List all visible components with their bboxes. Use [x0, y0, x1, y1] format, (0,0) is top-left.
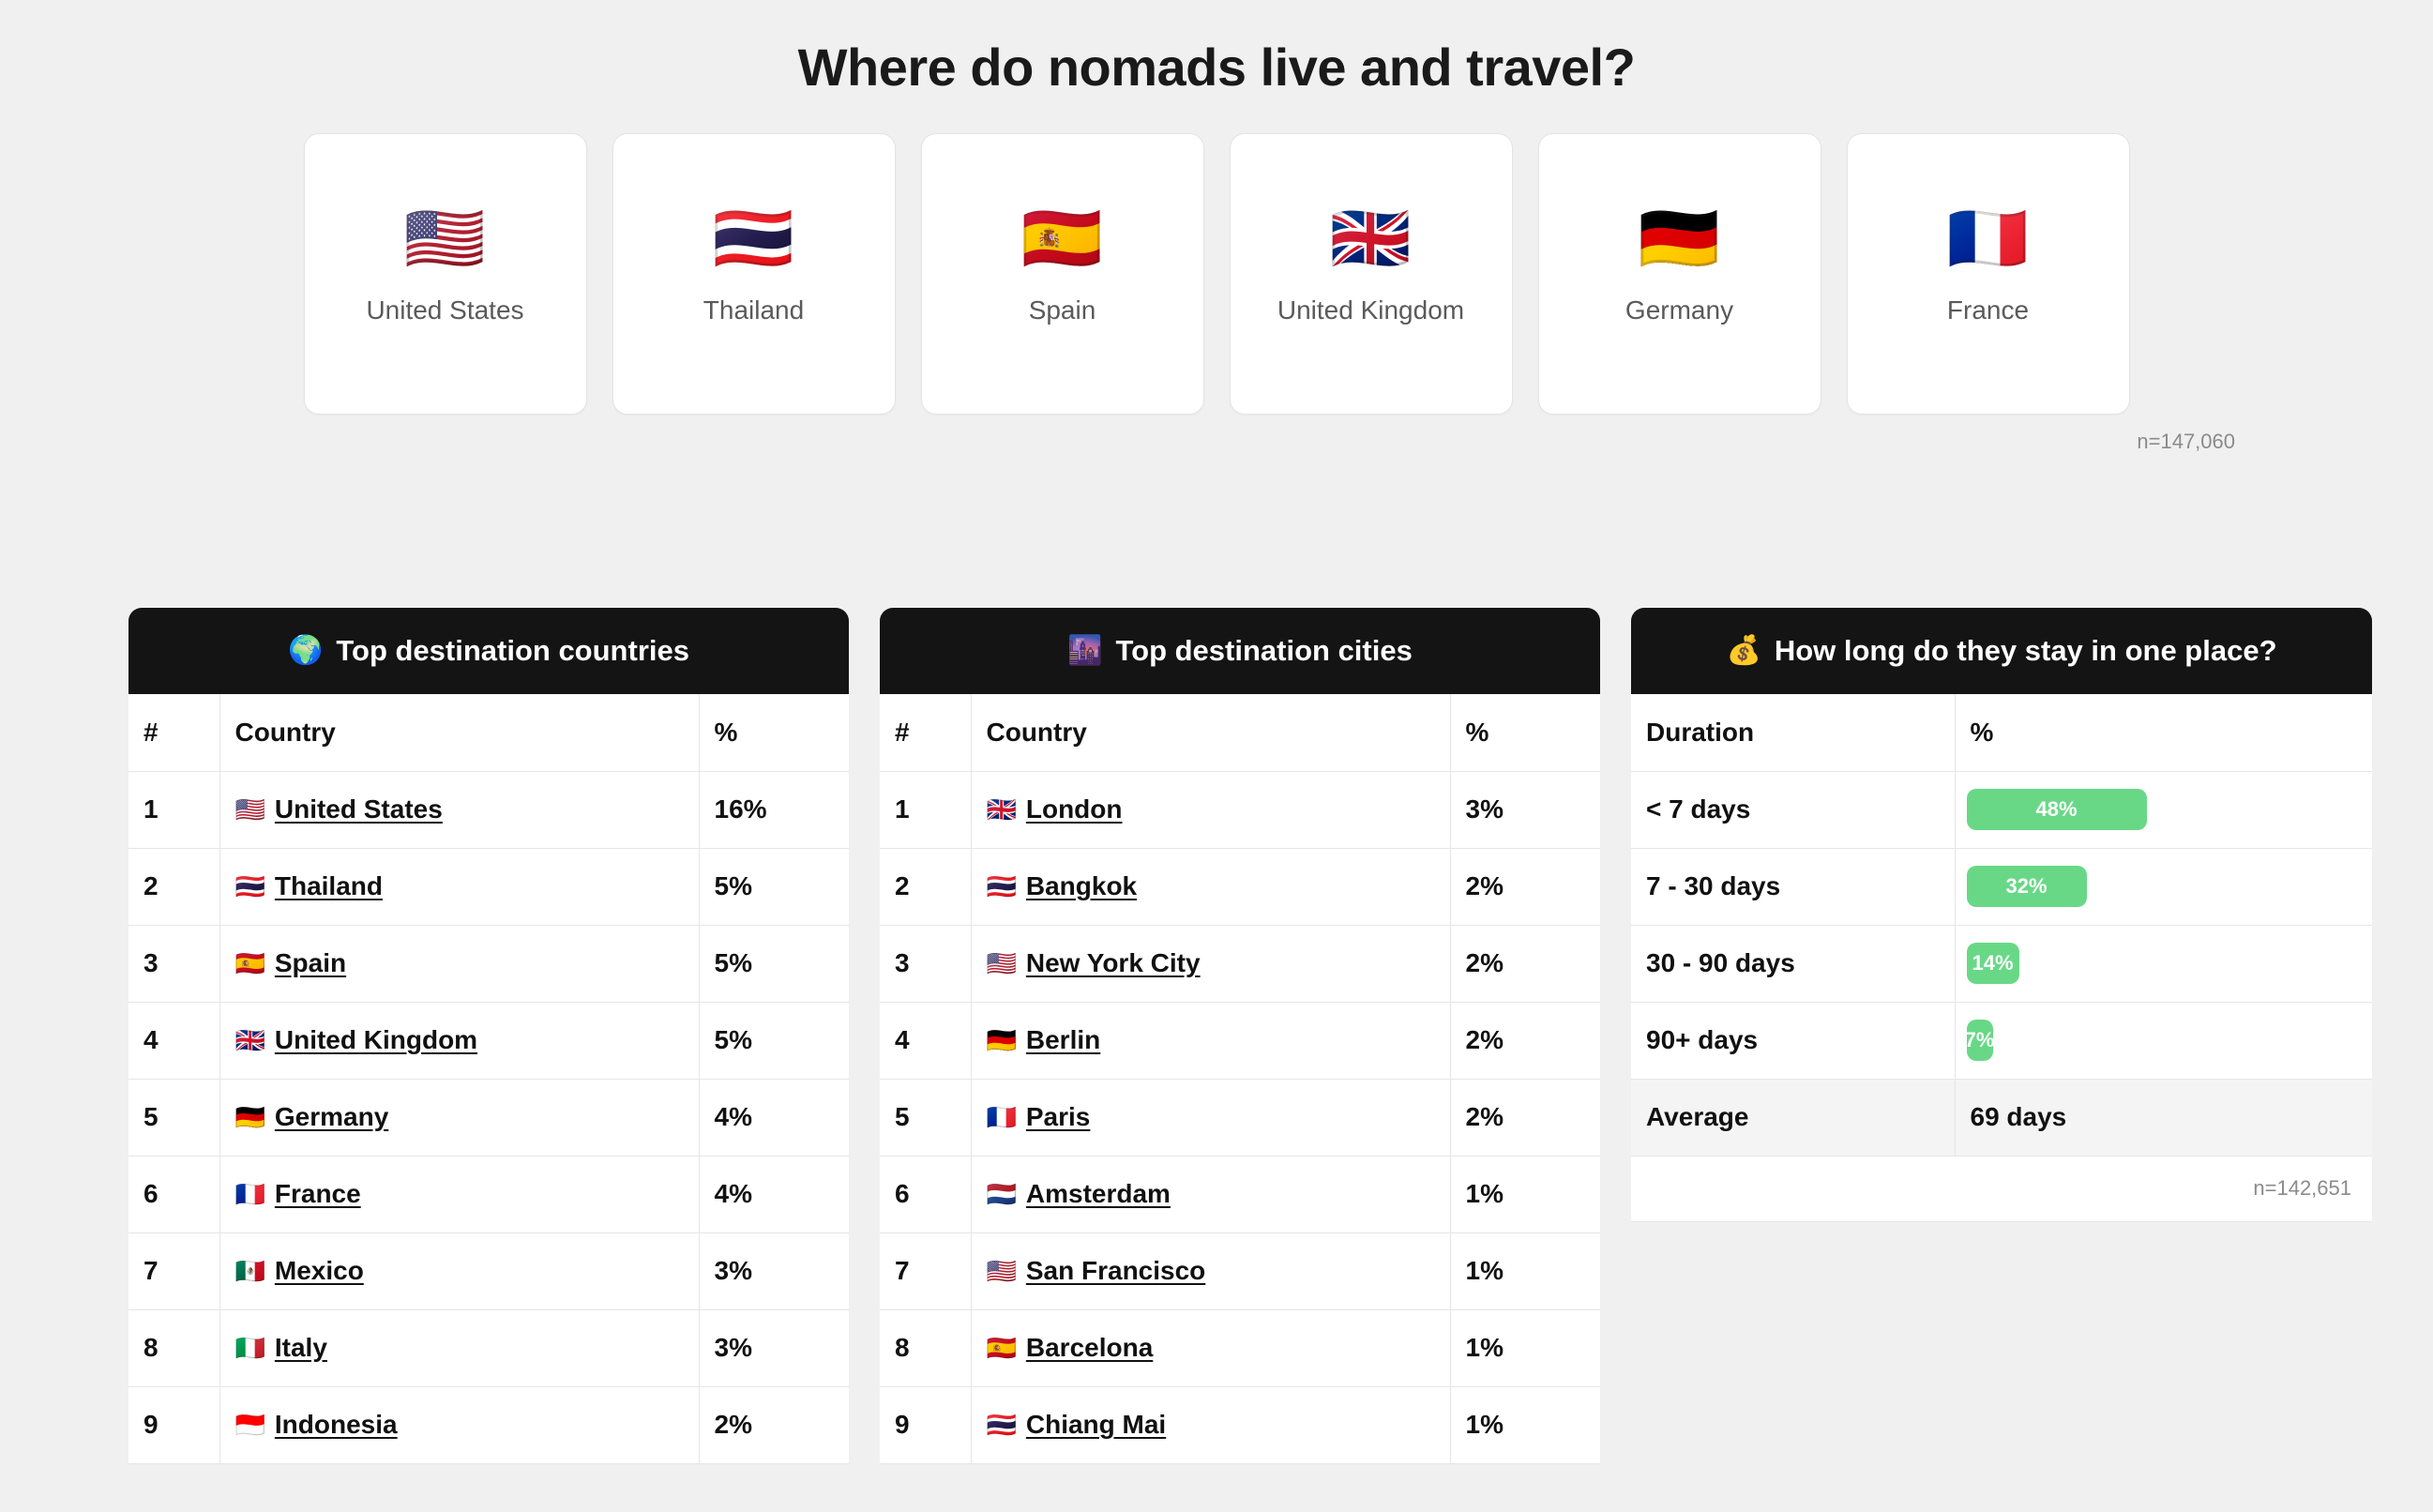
cell-percent: 5%: [699, 925, 849, 1002]
cell-name-link[interactable]: Mexico: [275, 1256, 364, 1285]
table-row: 9🇮🇩Indonesia2%: [128, 1386, 849, 1463]
cell-name-link[interactable]: Germany: [275, 1102, 388, 1131]
percent-bar: 32%: [1967, 866, 2087, 907]
cell-name-link[interactable]: United States: [275, 794, 443, 824]
cell-name: 🇬🇧United Kingdom: [219, 1002, 699, 1079]
table-row: < 7 days48%: [1631, 771, 2372, 848]
page-title: Where do nomads live and travel?: [0, 0, 2433, 98]
cell-percent: 2%: [1450, 1079, 1600, 1156]
row-flag-icon: 🇫🇷: [987, 1103, 1017, 1132]
table-row: 7🇺🇸San Francisco1%: [880, 1232, 1600, 1309]
table-header-row: Duration %: [1631, 694, 2372, 771]
flag-card-label: Spain: [1029, 295, 1096, 325]
flag-card[interactable]: 🇬🇧United Kingdom: [1230, 133, 1513, 415]
cell-name-link[interactable]: Berlin: [1026, 1025, 1100, 1054]
table-row: 3🇪🇸Spain5%: [128, 925, 849, 1002]
cell-name: 🇺🇸San Francisco: [971, 1232, 1450, 1309]
cell-name-link[interactable]: Indonesia: [275, 1410, 398, 1439]
cell-percent: 2%: [1450, 925, 1600, 1002]
cell-percent: 2%: [699, 1386, 849, 1463]
table-row: 5🇩🇪Germany4%: [128, 1079, 849, 1156]
cell-rank: 5: [880, 1079, 971, 1156]
row-flag-icon: 🇹🇭: [987, 1411, 1017, 1440]
table-row: 4🇬🇧United Kingdom5%: [128, 1002, 849, 1079]
cell-name: 🇮🇹Italy: [219, 1309, 699, 1386]
cell-name-link[interactable]: New York City: [1026, 948, 1201, 977]
row-flag-icon: 🇬🇧: [987, 795, 1017, 824]
cell-percent: 1%: [1450, 1156, 1600, 1232]
table-row: 9🇹🇭Chiang Mai1%: [880, 1386, 1600, 1463]
flag-card-strip: 🇺🇸United States🇹🇭Thailand🇪🇸Spain🇬🇧United…: [0, 133, 2433, 415]
flag-thailand-icon: 🇹🇭: [713, 198, 794, 279]
cell-duration-label: 30 - 90 days: [1631, 925, 1955, 1002]
cell-name: 🇩🇪Berlin: [971, 1002, 1450, 1079]
row-flag-icon: 🇳🇱: [987, 1180, 1017, 1209]
table-row: 1🇬🇧London3%: [880, 771, 1600, 848]
cell-percent: 2%: [1450, 848, 1600, 925]
cell-percent: 5%: [699, 848, 849, 925]
cell-rank: 4: [880, 1002, 971, 1079]
panel-header-cities: 🌆 Top destination cities: [880, 608, 1600, 694]
table-countries: # Country % 1🇺🇸United States16%2🇹🇭Thaila…: [128, 694, 849, 1464]
cell-rank: 1: [880, 771, 971, 848]
panel-header-duration: 💰 How long do they stay in one place?: [1631, 608, 2372, 694]
column-header-rank: #: [880, 694, 971, 771]
cell-name-link[interactable]: Amsterdam: [1026, 1179, 1171, 1208]
panel-top-destination-countries: 🌍 Top destination countries # Country % …: [128, 608, 849, 1464]
table-row: 7🇲🇽Mexico3%: [128, 1232, 849, 1309]
row-flag-icon: 🇮🇹: [235, 1334, 265, 1363]
column-header-pct: %: [1955, 694, 2372, 771]
row-flag-icon: 🇺🇸: [235, 795, 265, 824]
table-row: 1🇺🇸United States16%: [128, 771, 849, 848]
cell-percent: 16%: [699, 771, 849, 848]
cell-percent: 3%: [699, 1232, 849, 1309]
cell-percent: 3%: [699, 1309, 849, 1386]
cell-percent: 5%: [699, 1002, 849, 1079]
cell-rank: 7: [128, 1232, 219, 1309]
cell-average-value: 69 days: [1955, 1079, 2372, 1156]
table-row: 4🇩🇪Berlin2%: [880, 1002, 1600, 1079]
cell-rank: 3: [128, 925, 219, 1002]
globe-icon: 🌍: [288, 637, 323, 665]
page-root: Where do nomads live and travel? 🇺🇸Unite…: [0, 0, 2433, 1512]
cell-name: 🇩🇪Germany: [219, 1079, 699, 1156]
row-flag-icon: 🇲🇽: [235, 1257, 265, 1286]
cell-duration-bar: 7%: [1955, 1002, 2372, 1079]
cell-duration-label: < 7 days: [1631, 771, 1955, 848]
cell-percent: 1%: [1450, 1232, 1600, 1309]
cell-percent: 1%: [1450, 1309, 1600, 1386]
flag-card-label: United States: [366, 295, 523, 325]
row-flag-icon: 🇹🇭: [987, 872, 1017, 901]
cell-rank: 9: [128, 1386, 219, 1463]
cell-rank: 4: [128, 1002, 219, 1079]
cell-rank: 6: [128, 1156, 219, 1232]
flag-card-label: Germany: [1625, 295, 1733, 325]
cell-duration-label: 7 - 30 days: [1631, 848, 1955, 925]
cell-name: 🇮🇩Indonesia: [219, 1386, 699, 1463]
panel-title-duration: How long do they stay in one place?: [1775, 634, 2277, 668]
table-header-row: # Country %: [880, 694, 1600, 771]
cell-name: 🇪🇸Barcelona: [971, 1309, 1450, 1386]
cell-name-link[interactable]: Chiang Mai: [1026, 1410, 1166, 1439]
table-row: 90+ days7%: [1631, 1002, 2372, 1079]
flag-card[interactable]: 🇫🇷France: [1847, 133, 2130, 415]
row-flag-icon: 🇩🇪: [235, 1103, 265, 1132]
cell-name-link[interactable]: Spain: [275, 948, 346, 977]
cell-name: 🇳🇱Amsterdam: [971, 1156, 1450, 1232]
cell-name: 🇹🇭Thailand: [219, 848, 699, 925]
table-cities: # Country % 1🇬🇧London3%2🇹🇭Bangkok2%3🇺🇸Ne…: [880, 694, 1600, 1464]
panels-row: 🌍 Top destination countries # Country % …: [128, 608, 2372, 1464]
panel-title-cities: Top destination cities: [1116, 634, 1413, 668]
cell-name: 🇺🇸New York City: [971, 925, 1450, 1002]
cell-rank: 7: [880, 1232, 971, 1309]
cell-name: 🇹🇭Chiang Mai: [971, 1386, 1450, 1463]
cell-name-link[interactable]: London: [1026, 794, 1123, 824]
cell-rank: 6: [880, 1156, 971, 1232]
flag-card[interactable]: 🇺🇸United States: [304, 133, 587, 415]
cityscape-icon: 🌆: [1067, 637, 1102, 665]
cell-name-link[interactable]: Thailand: [275, 871, 383, 900]
flag-strip-sample-note: n=147,060: [0, 430, 2433, 454]
table-duration: Duration % < 7 days48%7 - 30 days32%30 -…: [1631, 694, 2372, 1222]
row-flag-icon: 🇪🇸: [987, 1334, 1017, 1363]
cell-name: 🇫🇷France: [219, 1156, 699, 1232]
row-flag-icon: 🇺🇸: [987, 949, 1017, 978]
column-header-duration: Duration: [1631, 694, 1955, 771]
table-row: 5🇫🇷Paris2%: [880, 1079, 1600, 1156]
cell-percent: 2%: [1450, 1002, 1600, 1079]
table-header-row: # Country %: [128, 694, 849, 771]
row-flag-icon: 🇬🇧: [235, 1026, 265, 1055]
cell-average-label: Average: [1631, 1079, 1955, 1156]
percent-bar: 48%: [1967, 789, 2147, 830]
cell-duration-bar: 32%: [1955, 848, 2372, 925]
cell-rank: 9: [880, 1386, 971, 1463]
table-row: 2🇹🇭Bangkok2%: [880, 848, 1600, 925]
cell-name-link[interactable]: Bangkok: [1026, 871, 1137, 900]
cell-duration-label: 90+ days: [1631, 1002, 1955, 1079]
cell-name: 🇹🇭Bangkok: [971, 848, 1450, 925]
cell-name: 🇲🇽Mexico: [219, 1232, 699, 1309]
cell-duration-bar: 14%: [1955, 925, 2372, 1002]
flag-germany-icon: 🇩🇪: [1639, 198, 1720, 279]
column-header-pct: %: [1450, 694, 1600, 771]
column-header-name: Country: [971, 694, 1450, 771]
cell-rank: 8: [128, 1309, 219, 1386]
table-row: 8🇮🇹Italy3%: [128, 1309, 849, 1386]
column-header-rank: #: [128, 694, 219, 771]
table-row: 3🇺🇸New York City2%: [880, 925, 1600, 1002]
panel-header-countries: 🌍 Top destination countries: [128, 608, 849, 694]
flag-strip-sample-note-text: n=147,060: [198, 430, 2235, 454]
cell-name: 🇪🇸Spain: [219, 925, 699, 1002]
money-bag-icon: 💰: [1726, 637, 1761, 665]
cell-percent: 3%: [1450, 771, 1600, 848]
cell-name-link[interactable]: San Francisco: [1026, 1256, 1205, 1285]
panel-stay-duration: 💰 How long do they stay in one place? Du…: [1631, 608, 2372, 1464]
flag-card[interactable]: 🇹🇭Thailand: [612, 133, 896, 415]
flag-united-kingdom-icon: 🇬🇧: [1330, 198, 1412, 279]
panel-title-countries: Top destination countries: [336, 634, 689, 668]
cell-name-link[interactable]: Italy: [275, 1333, 327, 1362]
row-flag-icon: 🇩🇪: [987, 1026, 1017, 1055]
cell-name: 🇬🇧London: [971, 771, 1450, 848]
table-row: 30 - 90 days14%: [1631, 925, 2372, 1002]
cell-rank: 1: [128, 771, 219, 848]
cell-rank: 8: [880, 1309, 971, 1386]
row-flag-icon: 🇪🇸: [235, 949, 265, 978]
percent-bar: 7%: [1967, 1020, 1993, 1061]
cell-rank: 2: [128, 848, 219, 925]
panel-top-destination-cities: 🌆 Top destination cities # Country % 1🇬🇧…: [880, 608, 1600, 1464]
cell-duration-bar: 48%: [1955, 771, 2372, 848]
row-flag-icon: 🇹🇭: [235, 872, 265, 901]
table-row: 8🇪🇸Barcelona1%: [880, 1309, 1600, 1386]
flag-france-icon: 🇫🇷: [1947, 198, 2029, 279]
cell-name: 🇫🇷Paris: [971, 1079, 1450, 1156]
cell-name-link[interactable]: Paris: [1026, 1102, 1091, 1131]
flag-spain-icon: 🇪🇸: [1021, 198, 1103, 279]
table-row: 7 - 30 days32%: [1631, 848, 2372, 925]
cell-name-link[interactable]: Barcelona: [1026, 1333, 1153, 1362]
flag-card[interactable]: 🇩🇪Germany: [1538, 133, 1821, 415]
cell-percent: 4%: [699, 1156, 849, 1232]
flag-card[interactable]: 🇪🇸Spain: [921, 133, 1204, 415]
flag-card-label: Thailand: [703, 295, 804, 325]
cell-percent: 1%: [1450, 1386, 1600, 1463]
row-flag-icon: 🇺🇸: [987, 1257, 1017, 1286]
cell-name: 🇺🇸United States: [219, 771, 699, 848]
table-row: 6🇫🇷France4%: [128, 1156, 849, 1232]
row-flag-icon: 🇫🇷: [235, 1180, 265, 1209]
table-row: 6🇳🇱Amsterdam1%: [880, 1156, 1600, 1232]
flag-card-label: United Kingdom: [1277, 295, 1464, 325]
cell-name-link[interactable]: United Kingdom: [275, 1025, 477, 1054]
flag-card-label: France: [1947, 295, 2029, 325]
table-row-average: Average69 days: [1631, 1079, 2372, 1156]
table-row-sample-note: n=142,651: [1631, 1156, 2372, 1221]
cell-rank: 5: [128, 1079, 219, 1156]
table-row: 2🇹🇭Thailand5%: [128, 848, 849, 925]
flag-united-states-icon: 🇺🇸: [404, 198, 486, 279]
column-header-pct: %: [699, 694, 849, 771]
column-header-name: Country: [219, 694, 699, 771]
cell-rank: 3: [880, 925, 971, 1002]
cell-rank: 2: [880, 848, 971, 925]
percent-bar: 14%: [1967, 943, 2019, 984]
cell-name-link[interactable]: France: [275, 1179, 361, 1208]
duration-sample-note: n=142,651: [1631, 1156, 2372, 1221]
row-flag-icon: 🇮🇩: [235, 1411, 265, 1440]
cell-percent: 4%: [699, 1079, 849, 1156]
